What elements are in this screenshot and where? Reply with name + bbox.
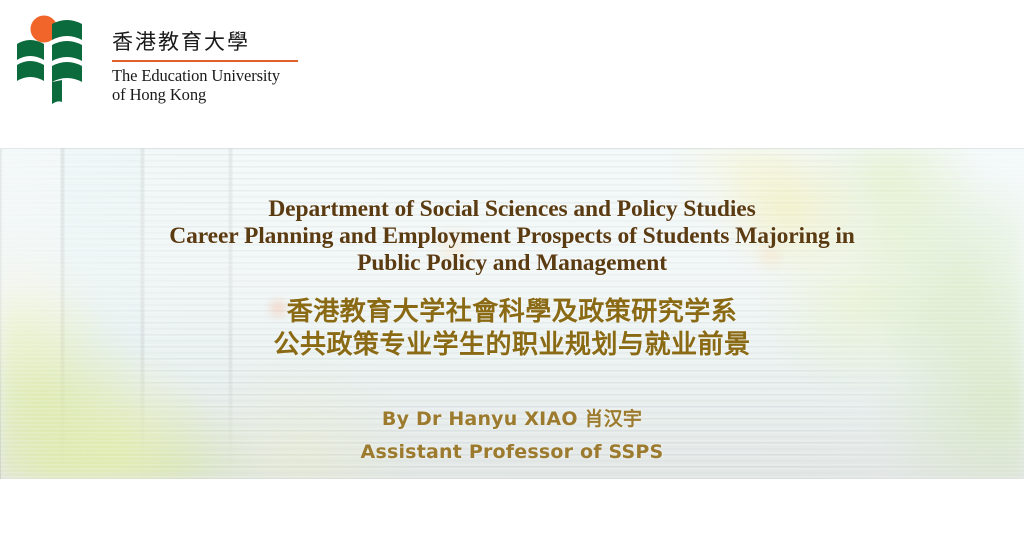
title-slide: 香港教育大學 The Education University of Hong … — [0, 0, 1024, 540]
background-scanline-texture — [0, 148, 1024, 479]
university-name-en-line1: The Education University — [112, 66, 280, 86]
university-name-en-line2: of Hong Kong — [112, 85, 206, 105]
university-name-cn: 香港教育大學 — [112, 30, 250, 55]
eduhk-book-sun-logo-icon — [14, 14, 98, 106]
eduhk-wordmark: 香港教育大學 The Education University of Hong … — [112, 14, 298, 105]
slide-header: 香港教育大學 The Education University of Hong … — [0, 0, 1024, 148]
campus-photo-band — [0, 148, 1024, 479]
slide-footer-whitespace — [0, 479, 1024, 540]
eduhk-logo-lockup: 香港教育大學 The Education University of Hong … — [14, 14, 298, 106]
logo-divider-rule — [112, 60, 298, 62]
